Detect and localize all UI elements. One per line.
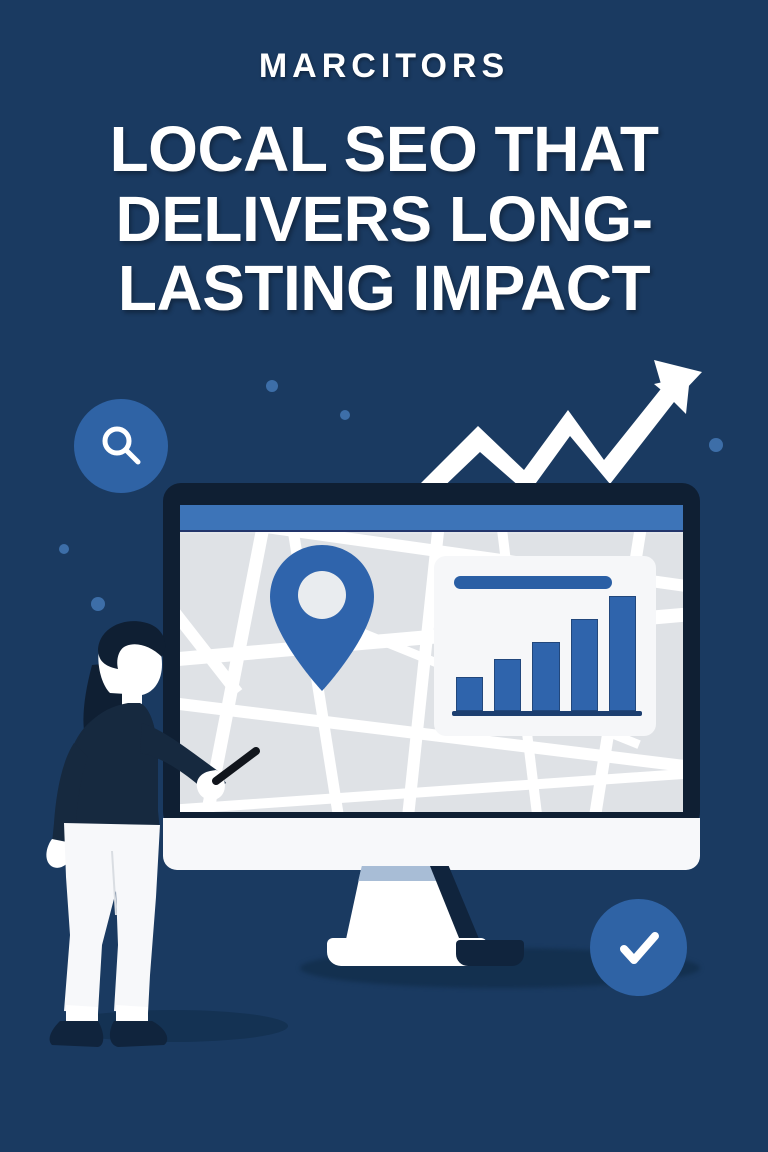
chart-bar	[532, 642, 559, 711]
check-icon	[613, 922, 665, 974]
analytics-chart-card	[434, 556, 656, 736]
chart-bar	[494, 659, 521, 711]
chart-title-placeholder	[454, 576, 612, 589]
headline-line-3: LASTING IMPACT	[58, 254, 710, 323]
bar-chart-bars	[456, 596, 636, 711]
search-badge[interactable]	[74, 399, 168, 493]
bar-chart	[456, 596, 636, 716]
monitor-base-shadow	[456, 940, 524, 966]
verified-check-badge[interactable]	[590, 899, 687, 996]
browser-topbar	[180, 505, 683, 532]
presenter-woman-illustration	[30, 615, 290, 1055]
chart-axis-line	[452, 711, 642, 716]
chart-bar	[571, 619, 598, 711]
search-icon	[97, 422, 145, 470]
headline-line-2: DELIVERS LONG-	[58, 185, 710, 254]
headline-line-1: LOCAL SEO THAT	[58, 115, 710, 184]
chart-bar	[456, 677, 483, 712]
text-block: MARCITORS LOCAL SEO THATDELIVERS LONG-LA…	[0, 0, 768, 323]
brand-name: MARCITORS	[0, 48, 768, 85]
chart-bar	[609, 596, 636, 711]
page-title: LOCAL SEO THATDELIVERS LONG-LASTING IMPA…	[0, 115, 768, 322]
